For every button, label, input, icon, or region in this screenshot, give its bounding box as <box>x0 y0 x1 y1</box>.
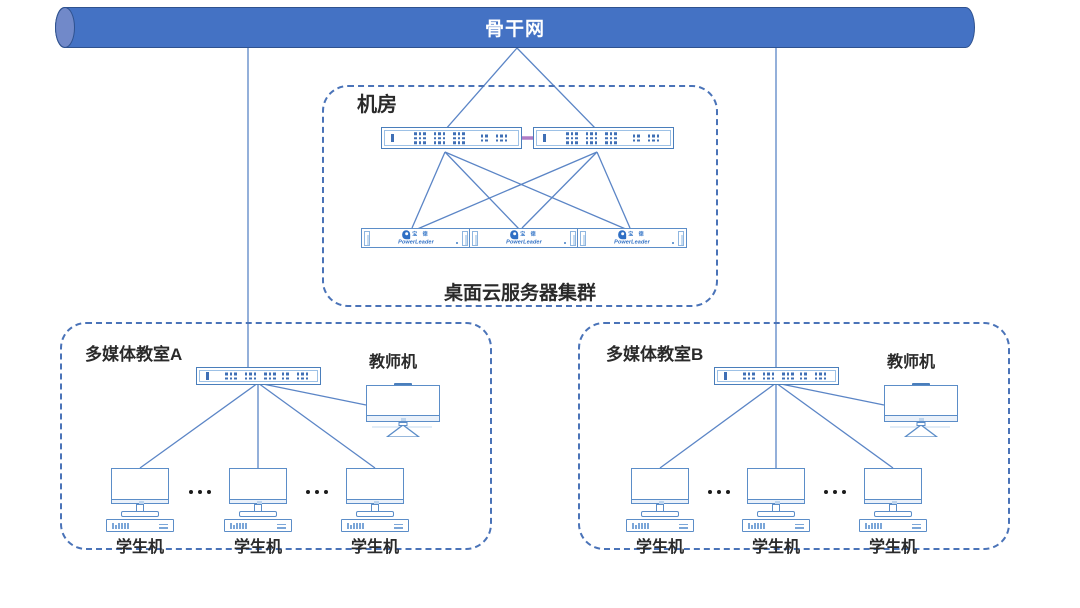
backbone-network-label: 骨干网 <box>56 8 974 47</box>
server-right-ear <box>678 231 684 246</box>
server-right-ear <box>570 231 576 246</box>
powerleader-mark-icon <box>618 230 626 239</box>
monitor-stand-base <box>356 511 394 517</box>
keyboard-keys <box>632 523 649 529</box>
classroom-b-student-label-1: 学生机 <box>610 533 710 557</box>
monitor-screen <box>111 468 169 500</box>
switch-port-group-b <box>282 373 309 380</box>
classroom-a-student-label-1: 学生机 <box>90 533 190 557</box>
classroom-a-student-pc-2[interactable] <box>229 468 287 510</box>
server-brand-logo: 宝 德 PowerLeader <box>398 230 434 246</box>
classroom-a-student-label-2: 学生机 <box>208 533 308 557</box>
classroom-a-student-pc-3[interactable] <box>346 468 404 510</box>
classroom-a-switch[interactable] <box>196 367 321 385</box>
server-left-ear <box>472 231 478 246</box>
classroom-b-ellipsis-2 <box>824 490 846 494</box>
classroom-b-student-keyboard-2[interactable] <box>742 519 810 532</box>
classroom-b-student-label-3: 学生机 <box>843 533 943 557</box>
keyboard-numpad <box>277 524 286 529</box>
server-left-ear <box>364 231 370 246</box>
switch-status-led <box>543 134 546 142</box>
monitor-stand-base <box>239 511 277 517</box>
classroom-b-student-pc-2[interactable] <box>747 468 805 510</box>
monitor-screen <box>346 468 404 500</box>
monitor-stand-base <box>874 511 912 517</box>
monitor-screen <box>631 468 689 500</box>
classroom-a-ellipsis-2 <box>306 490 328 494</box>
keyboard-numpad <box>795 524 804 529</box>
server-led <box>564 242 566 244</box>
monitor-screen <box>366 385 440 416</box>
switch-port-group-a <box>566 132 617 144</box>
classroom-b-switch[interactable] <box>714 367 839 385</box>
classroom-b-student-pc-1[interactable] <box>631 468 689 510</box>
switch-port-group-a <box>225 373 276 380</box>
server-brand-cn: 宝 德 <box>412 232 429 237</box>
classroom-b-ellipsis-1 <box>708 490 730 494</box>
switch-port-group-a <box>743 373 794 380</box>
server-brand-en: PowerLeader <box>506 240 542 246</box>
keyboard-keys <box>112 523 129 529</box>
keyboard-keys <box>230 523 247 529</box>
zone-server-room-caption: 桌面云服务器集群 <box>322 278 718 305</box>
switch-port-group-b <box>633 135 660 142</box>
monitor-stand-base <box>385 425 421 437</box>
core-switch-2[interactable] <box>533 127 674 149</box>
switch-status-led <box>391 134 394 142</box>
keyboard-keys <box>347 523 364 529</box>
powerleader-mark-icon <box>510 230 518 239</box>
server-brand-logo: 宝 德 PowerLeader <box>506 230 542 246</box>
classroom-a-student-keyboard-1[interactable] <box>106 519 174 532</box>
brand-logo-icon <box>401 418 406 421</box>
server-led <box>456 242 458 244</box>
server-brand-logo: 宝 德 PowerLeader <box>614 230 650 246</box>
server-left-ear <box>580 231 586 246</box>
monitor-screen <box>747 468 805 500</box>
classroom-a-student-keyboard-3[interactable] <box>341 519 409 532</box>
classroom-b-student-keyboard-1[interactable] <box>626 519 694 532</box>
keyboard-numpad <box>394 524 403 529</box>
classroom-b-teacher-label: 教师机 <box>856 348 966 372</box>
classroom-a-student-label-3: 学生机 <box>325 533 425 557</box>
zone-classroom-a-title: 多媒体教室A <box>85 340 182 365</box>
core-switch-1[interactable] <box>381 127 522 149</box>
classroom-b-student-pc-3[interactable] <box>864 468 922 510</box>
zone-classroom-b-title: 多媒体教室B <box>606 340 703 365</box>
server-1[interactable]: 宝 德 PowerLeader <box>361 228 471 248</box>
keyboard-keys <box>865 523 882 529</box>
zone-server-room-title: 机房 <box>357 88 397 117</box>
server-right-ear <box>462 231 468 246</box>
monitor-screen <box>864 468 922 500</box>
server-brand-cn: 宝 德 <box>520 232 537 237</box>
server-led <box>672 242 674 244</box>
switch-status-led <box>206 372 209 380</box>
monitor-stand-base <box>903 425 939 437</box>
switch-port-group-b <box>800 373 827 380</box>
classroom-a-ellipsis-1 <box>189 490 211 494</box>
backbone-network-cylinder[interactable]: 骨干网 <box>55 7 975 48</box>
keyboard-numpad <box>679 524 688 529</box>
monitor-screen <box>229 468 287 500</box>
server-3[interactable]: 宝 德 PowerLeader <box>577 228 687 248</box>
monitor-stand-base <box>121 511 159 517</box>
keyboard-keys <box>748 523 765 529</box>
brand-logo-icon <box>919 418 924 421</box>
server-brand-en: PowerLeader <box>614 240 650 246</box>
classroom-a-teacher-label: 教师机 <box>338 348 448 372</box>
keyboard-numpad <box>912 524 921 529</box>
classroom-a-teacher-pc[interactable] <box>366 385 440 430</box>
monitor-stand-base <box>757 511 795 517</box>
switch-port-group-a <box>414 132 465 144</box>
network-topology-diagram: 骨干网 机房 桌面云服务器集群 <box>0 0 1080 608</box>
classroom-a-student-pc-1[interactable] <box>111 468 169 510</box>
powerleader-mark-icon <box>402 230 410 239</box>
switch-port-group-b <box>481 135 508 142</box>
monitor-stand-base <box>641 511 679 517</box>
server-brand-en: PowerLeader <box>398 240 434 246</box>
classroom-b-teacher-pc[interactable] <box>884 385 958 430</box>
keyboard-numpad <box>159 524 168 529</box>
classroom-b-student-keyboard-3[interactable] <box>859 519 927 532</box>
monitor-screen <box>884 385 958 416</box>
zone-server-room[interactable] <box>322 85 718 307</box>
classroom-a-student-keyboard-2[interactable] <box>224 519 292 532</box>
server-brand-cn: 宝 德 <box>628 232 645 237</box>
classroom-b-student-label-2: 学生机 <box>726 533 826 557</box>
switch-status-led <box>724 372 727 380</box>
server-2[interactable]: 宝 德 PowerLeader <box>469 228 579 248</box>
